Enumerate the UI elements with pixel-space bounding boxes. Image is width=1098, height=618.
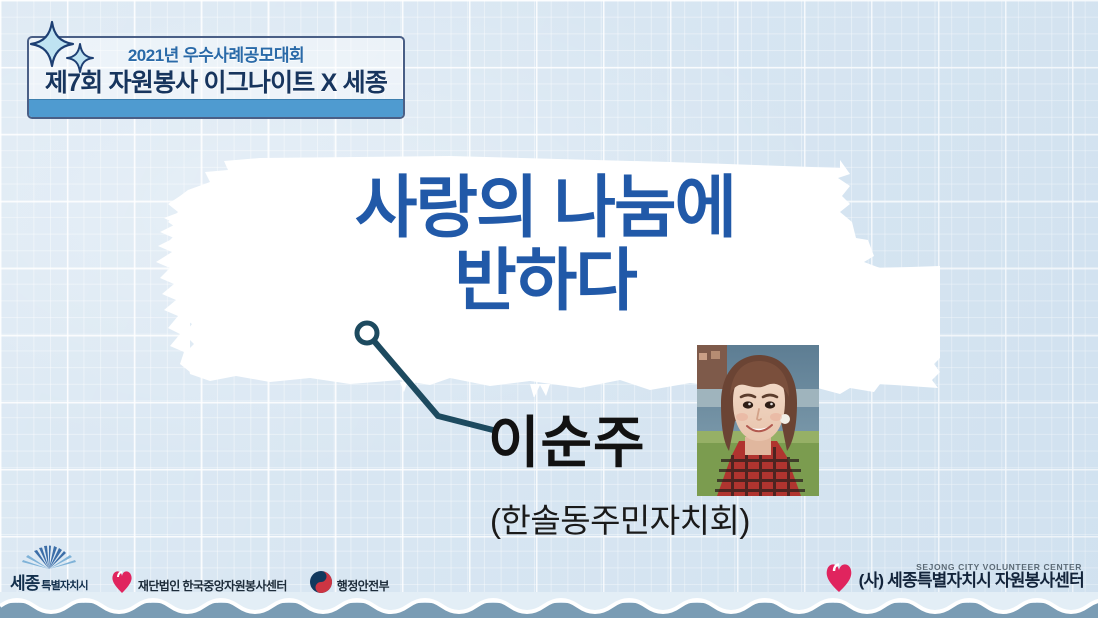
footer-logo-right: SEJONG CITY VOLUNTEER CENTER (사) 세종특별자치시… — [824, 560, 1084, 594]
bottom-wave-divider — [0, 592, 1098, 618]
sejong-rays-icon — [20, 545, 78, 569]
presentation-slide: 2021년 우수사례공모대회 제7회 자원봉사 이그나이트 X 세종 사랑의 나… — [0, 0, 1098, 618]
sejong-logo-sub-text: 특별자치시 — [41, 577, 88, 593]
event-title-banner: 2021년 우수사례공모대회 제7회 자원봉사 이그나이트 X 세종 — [27, 36, 405, 119]
taegeuk-icon — [309, 570, 333, 594]
volunteer-center-korean-name: (사) 세종특별자치시 자원봉사센터 — [859, 572, 1084, 591]
speaker-name: 이순주 — [488, 398, 646, 479]
speaker-portrait-photo — [697, 345, 819, 496]
footer-logos-left: 세종 특별자치시 재단법인 한국중앙자원봉사센터 행정안전부 — [10, 545, 389, 594]
heart-icon — [824, 560, 854, 594]
sparkle-icon — [65, 42, 95, 74]
logo-label: 행정안전부 — [337, 577, 389, 594]
speaker-organization: (한솔동주민자치회) — [490, 494, 750, 542]
banner-bottom-bar — [29, 99, 403, 117]
sejong-logo-big-text: 세종 — [10, 569, 39, 594]
logo-label: 재단법인 한국중앙자원봉사센터 — [138, 577, 287, 594]
logo-sejong-volunteer-center: SEJONG CITY VOLUNTEER CENTER (사) 세종특별자치시… — [824, 560, 1084, 594]
slide-main-title: 사랑의 나눔에 반하다 — [265, 172, 825, 319]
logo-korea-central-volunteer-center: 재단법인 한국중앙자원봉사센터 — [110, 568, 287, 594]
logo-ministry-of-interior-and-safety: 행정안전부 — [309, 570, 389, 594]
sejong-wordmark: 세종 특별자치시 — [10, 569, 88, 594]
heart-icon — [110, 568, 134, 594]
logo-sejong-city: 세종 특별자치시 — [10, 545, 88, 594]
volunteer-center-texts: SEJONG CITY VOLUNTEER CENTER (사) 세종특별자치시… — [859, 563, 1084, 591]
